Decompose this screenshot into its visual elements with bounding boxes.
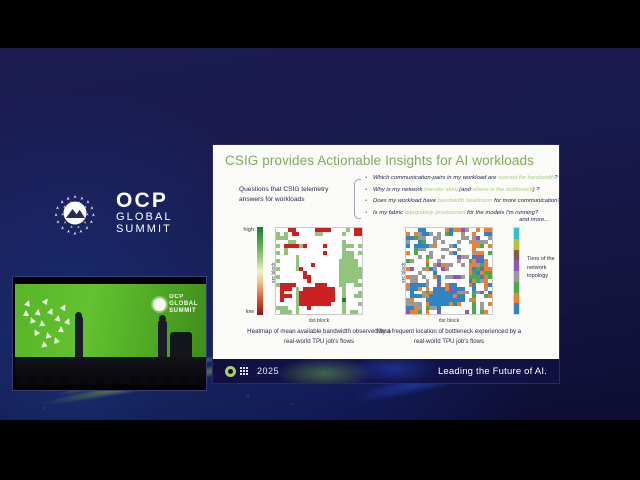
left-colorbar: [257, 227, 263, 315]
list-item: Why is my network transfer slow (and whe…: [365, 185, 555, 197]
left-chart-caption: Heatmap of mean available bandwidth obse…: [244, 327, 394, 347]
colorbar-band: [514, 228, 519, 239]
footer-grid-icon: [240, 367, 248, 375]
colorbar-low-label: low: [246, 309, 254, 315]
left-x-axis-label: dst block: [275, 318, 363, 324]
separator-2: |: [423, 419, 432, 421]
separator-1: |: [271, 419, 280, 421]
right-chart-caption: Most frequent location of bottleneck exp…: [374, 327, 524, 347]
conference-stage-video-thumbnail[interactable]: OCPGLOBALSUMMIT: [12, 276, 207, 391]
right-x-axis-label: dst block: [405, 318, 493, 324]
speaker-person-right: [158, 320, 167, 360]
speaker-person-left: [75, 316, 83, 360]
right-heatmap-grid: [405, 227, 493, 315]
left-heatmap-grid: [275, 227, 363, 315]
slide-footer-logo: 2025: [225, 366, 279, 377]
event-location: SAN JOSE, CA: [298, 419, 405, 421]
video-logo-text: OCPGLOBALSUMMIT: [169, 294, 198, 315]
right-categorical-colorbar: [513, 227, 520, 315]
and-more-text: and more...: [519, 217, 549, 223]
speaker-head-right: [159, 315, 166, 322]
arrow-icon: [35, 309, 42, 316]
list-item: Does my workload have bandwidth headroom…: [365, 196, 555, 208]
arrow-icon: [41, 341, 48, 348]
slide-content-band: OCP GLOBAL SUMMIT: [0, 48, 640, 420]
colorbar-band: [514, 303, 519, 314]
colorbar-band: [514, 282, 519, 293]
event-dates: OCTOBER 13-17, 2025: [83, 419, 253, 421]
presentation-slide[interactable]: CSIG provides Actionable Insights for AI…: [212, 144, 560, 384]
left-colorbar-labels: high low: [233, 227, 255, 315]
speaker-head-left: [75, 312, 82, 319]
arrow-icon: [39, 320, 46, 327]
video-logo-circle-icon: [153, 298, 166, 311]
brace-decoration: [354, 179, 361, 219]
footer-circle-icon: [225, 366, 236, 377]
heatmap-cell: [488, 310, 492, 314]
arrow-icon: [23, 310, 29, 316]
colorbar-high-label: high: [243, 227, 254, 233]
logo-summit-text: SUMMIT: [116, 224, 173, 236]
colorbar-band: [514, 260, 519, 271]
video-frame: OCPGLOBALSUMMIT: [15, 284, 206, 385]
ocp-global-summit-logo: OCP GLOBAL SUMMIT: [44, 176, 194, 250]
list-item: Which communication-pairs in my workload…: [365, 173, 555, 185]
screenshot-root: OCP GLOBAL SUMMIT: [0, 0, 640, 480]
slide-title: CSIG provides Actionable Insights for AI…: [225, 153, 534, 168]
colorbar-band: [514, 271, 519, 282]
slide-footer-bar: 2025 Leading the Future of AI.: [213, 359, 560, 383]
video-ocp-logo: OCPGLOBALSUMMIT: [153, 294, 198, 315]
slide-footer-year: 2025: [257, 366, 279, 376]
podium: [170, 332, 192, 360]
tiers-legend-label: Tiers of the network topology: [527, 255, 560, 281]
question-bullet-list: Which communication-pairs in my workload…: [365, 173, 555, 219]
event-info-bar: OCTOBER 13-17, 2025 | SAN JOSE, CA | #OC…: [0, 403, 640, 420]
ocp-dot-circle-mountain-icon: [44, 182, 106, 244]
event-hashtag: #OCPSUMMIT25: [450, 419, 557, 421]
heatmap-cell: [358, 310, 362, 314]
colorbar-band: [514, 293, 519, 304]
questions-label: Questions that CSIG telemetry answers fo…: [239, 185, 351, 205]
colorbar-band: [514, 239, 519, 250]
event-info-text: OCTOBER 13-17, 2025 | SAN JOSE, CA | #OC…: [83, 419, 556, 421]
slide-footer-tagline: Leading the Future of AI.: [438, 366, 547, 377]
audience-silhouettes: [15, 357, 206, 385]
arrow-icon: [58, 326, 65, 333]
ocp-logo-wordmark: OCP GLOBAL SUMMIT: [116, 190, 173, 236]
colorbar-band: [514, 250, 519, 261]
logo-ocp-text: OCP: [116, 190, 173, 213]
